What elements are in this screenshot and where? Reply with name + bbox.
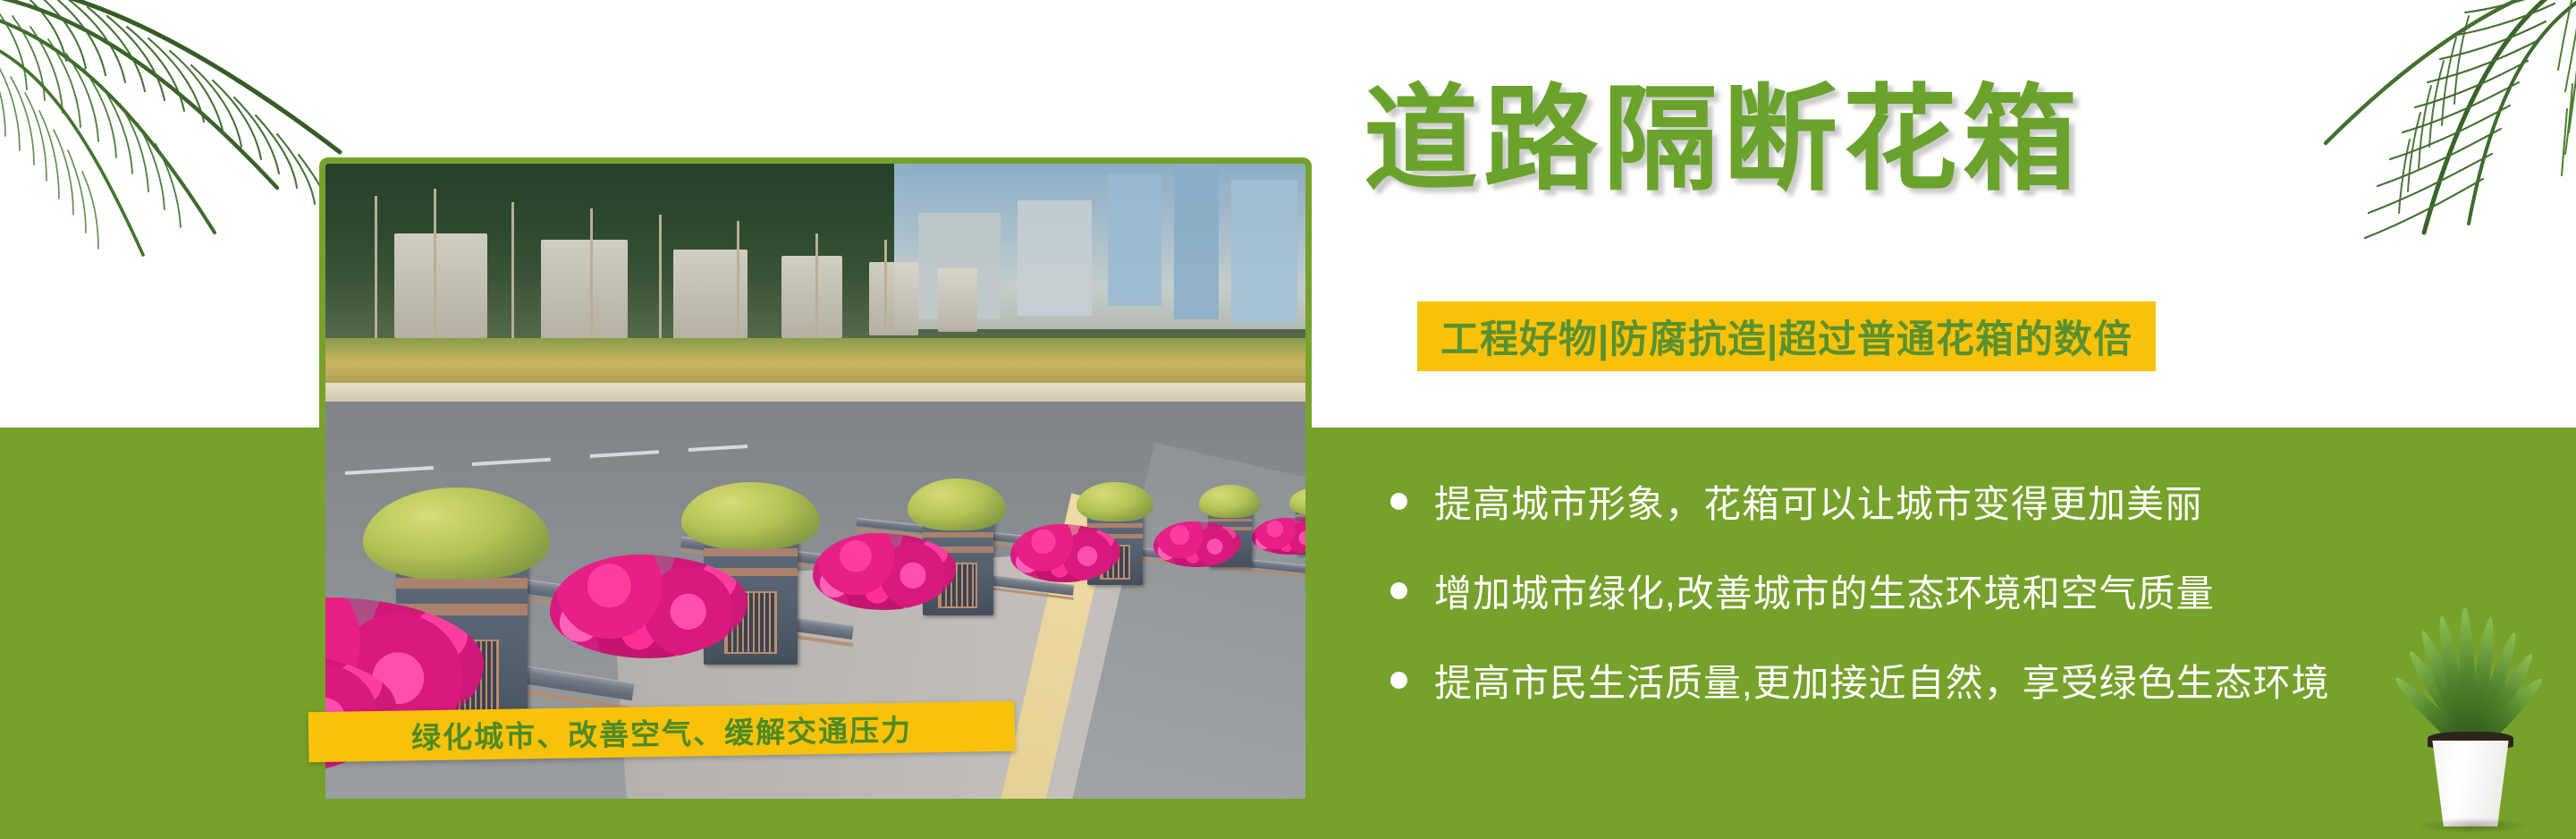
pot-shadow — [2417, 818, 2528, 834]
page-title: 道路隔断花箱 — [1364, 47, 2082, 212]
white-flower-pot — [2424, 741, 2517, 826]
banner-root: 绿化城市、改善空气、缓解交通压力 道路隔断花箱 工程好物|防腐抗造|超过普通花箱… — [0, 0, 2576, 839]
bullet-dot-icon — [1390, 672, 1407, 689]
bullet-text: 提高市民生活质量,更加接近自然，享受绿色生态环境 — [1434, 653, 2330, 708]
bullet-text: 提高城市形象，花箱可以让城市变得更加美丽 — [1434, 474, 2203, 529]
subtitle-text: 工程好物|防腐抗造|超过普通花箱的数倍 — [1440, 309, 2133, 364]
photo-caption-text: 绿化城市、改善空气、缓解交通压力 — [411, 707, 913, 758]
potted-plant-icon — [2378, 601, 2556, 834]
photo-curb — [325, 383, 1305, 402]
bullet-text: 增加城市绿化,改善城市的生态环境和空气质量 — [1434, 564, 2215, 618]
palm-frond-icon — [2200, 0, 2576, 242]
palm-frond-icon — [0, 0, 349, 259]
photo-hedge-strip — [325, 338, 1305, 383]
bullet-dot-icon — [1390, 582, 1407, 599]
list-item: 提高城市形象，花箱可以让城市变得更加美丽 — [1390, 456, 2576, 546]
bullet-dot-icon — [1390, 493, 1407, 510]
subtitle-badge: 工程好物|防腐抗造|超过普通花箱的数倍 — [1417, 301, 2156, 371]
